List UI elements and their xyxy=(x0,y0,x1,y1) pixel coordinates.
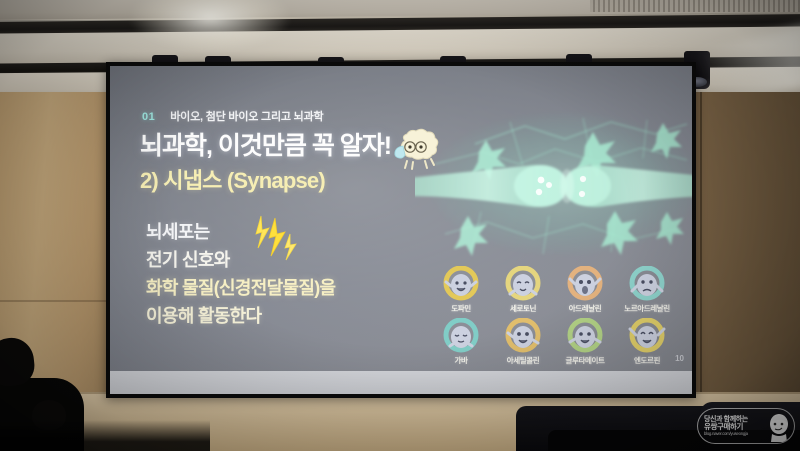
watermark-text: 당신과 함께하는 유쌍구매하기 blog.naver.com/yuseongja xyxy=(704,416,748,437)
body-line: 화학 물질(신경전달물질)을 xyxy=(146,274,335,302)
character-cell: 글루타메이트 xyxy=(556,318,614,368)
character-avatar xyxy=(494,318,552,354)
character-label: 엔도르핀 xyxy=(618,355,676,366)
character-avatar xyxy=(618,318,676,354)
slide-body-text: 뇌세포는 전기 신호와 화학 물질(신경전달물질)을 이용해 활동한다 xyxy=(146,218,335,330)
watermark-line-2: 유쌍구매하기 xyxy=(704,423,748,431)
character-label: 가바 xyxy=(432,355,490,366)
character-cell: 세로토닌 xyxy=(494,266,552,316)
character-label: 도파민 xyxy=(432,303,490,314)
character-cell: 도파민 xyxy=(432,266,490,316)
screen-blank-area xyxy=(110,371,692,394)
watermark-url: blog.naver.com/yuseongja xyxy=(704,432,748,436)
character-label: 글루타메이트 xyxy=(556,355,614,366)
character-cell: 아세틸콜린 xyxy=(494,318,552,368)
character-avatar xyxy=(618,266,676,302)
foreground-shadow xyxy=(0,420,210,451)
character-avatar xyxy=(432,318,490,354)
character-label: 세로토닌 xyxy=(494,303,552,314)
ceiling-light-glare xyxy=(130,0,290,52)
neurotransmitter-character-grid: 도파민 세로토닌 xyxy=(432,266,677,366)
character-label: 아세틸콜린 xyxy=(494,355,552,366)
blog-watermark-badge: 당신과 함께하는 유쌍구매하기 blog.naver.com/yuseongja xyxy=(697,408,795,444)
watermark-face-icon xyxy=(762,412,792,442)
kicker-number: 01 xyxy=(142,111,155,123)
character-avatar xyxy=(432,266,490,302)
body-line: 이용해 활동한다 xyxy=(146,302,335,330)
slide-page-number: 10 xyxy=(675,354,684,363)
character-label: 노르아드레날린 xyxy=(618,303,676,314)
character-cell: 아드레날린 xyxy=(556,266,614,316)
right-wall-seam xyxy=(700,92,702,412)
sheep-mascot-icon xyxy=(391,128,443,172)
wall-panel-seam xyxy=(0,300,120,302)
lecture-hall-photo: 01 바이오, 첨단 바이오 그리고 뇌과학 뇌과학, 이것만큼 꼭 알자! 2… xyxy=(0,0,800,451)
character-avatar xyxy=(494,266,552,302)
synapse-neuron-illustration xyxy=(415,104,692,264)
presentation-slide: 01 바이오, 첨단 바이오 그리고 뇌과학 뇌과학, 이것만큼 꼭 알자! 2… xyxy=(110,66,692,371)
slide-title: 뇌과학, 이것만큼 꼭 알자! xyxy=(140,126,391,162)
projection-screen: 01 바이오, 첨단 바이오 그리고 뇌과학 뇌과학, 이것만큼 꼭 알자! 2… xyxy=(110,66,692,394)
ceiling-vent-grille xyxy=(590,0,800,12)
character-avatar xyxy=(556,266,614,302)
character-label: 아드레날린 xyxy=(556,303,614,314)
kicker-label: 바이오, 첨단 바이오 그리고 뇌과학 xyxy=(170,108,323,124)
character-cell: 노르아드레날린 xyxy=(618,266,676,316)
character-cell: 엔도르핀 xyxy=(618,318,676,368)
character-avatar xyxy=(556,318,614,354)
right-wood-wall xyxy=(686,92,800,412)
character-cell: 가바 xyxy=(432,318,490,368)
lightning-bolt-icon xyxy=(249,214,309,268)
slide-subtitle: 2) 시냅스 (Synapse) xyxy=(140,163,325,195)
slide-kicker: 01 바이오, 첨단 바이오 그리고 뇌과학 xyxy=(142,108,323,124)
